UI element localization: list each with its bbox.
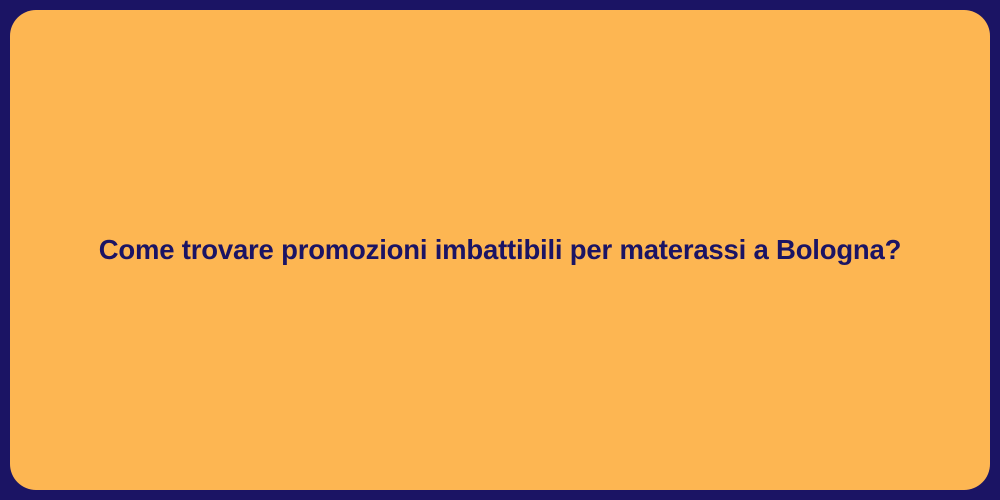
banner-headline: Come trovare promozioni imbattibili per … bbox=[99, 233, 901, 267]
banner-panel: Come trovare promozioni imbattibili per … bbox=[10, 10, 990, 490]
banner-frame: Come trovare promozioni imbattibili per … bbox=[0, 0, 1000, 500]
